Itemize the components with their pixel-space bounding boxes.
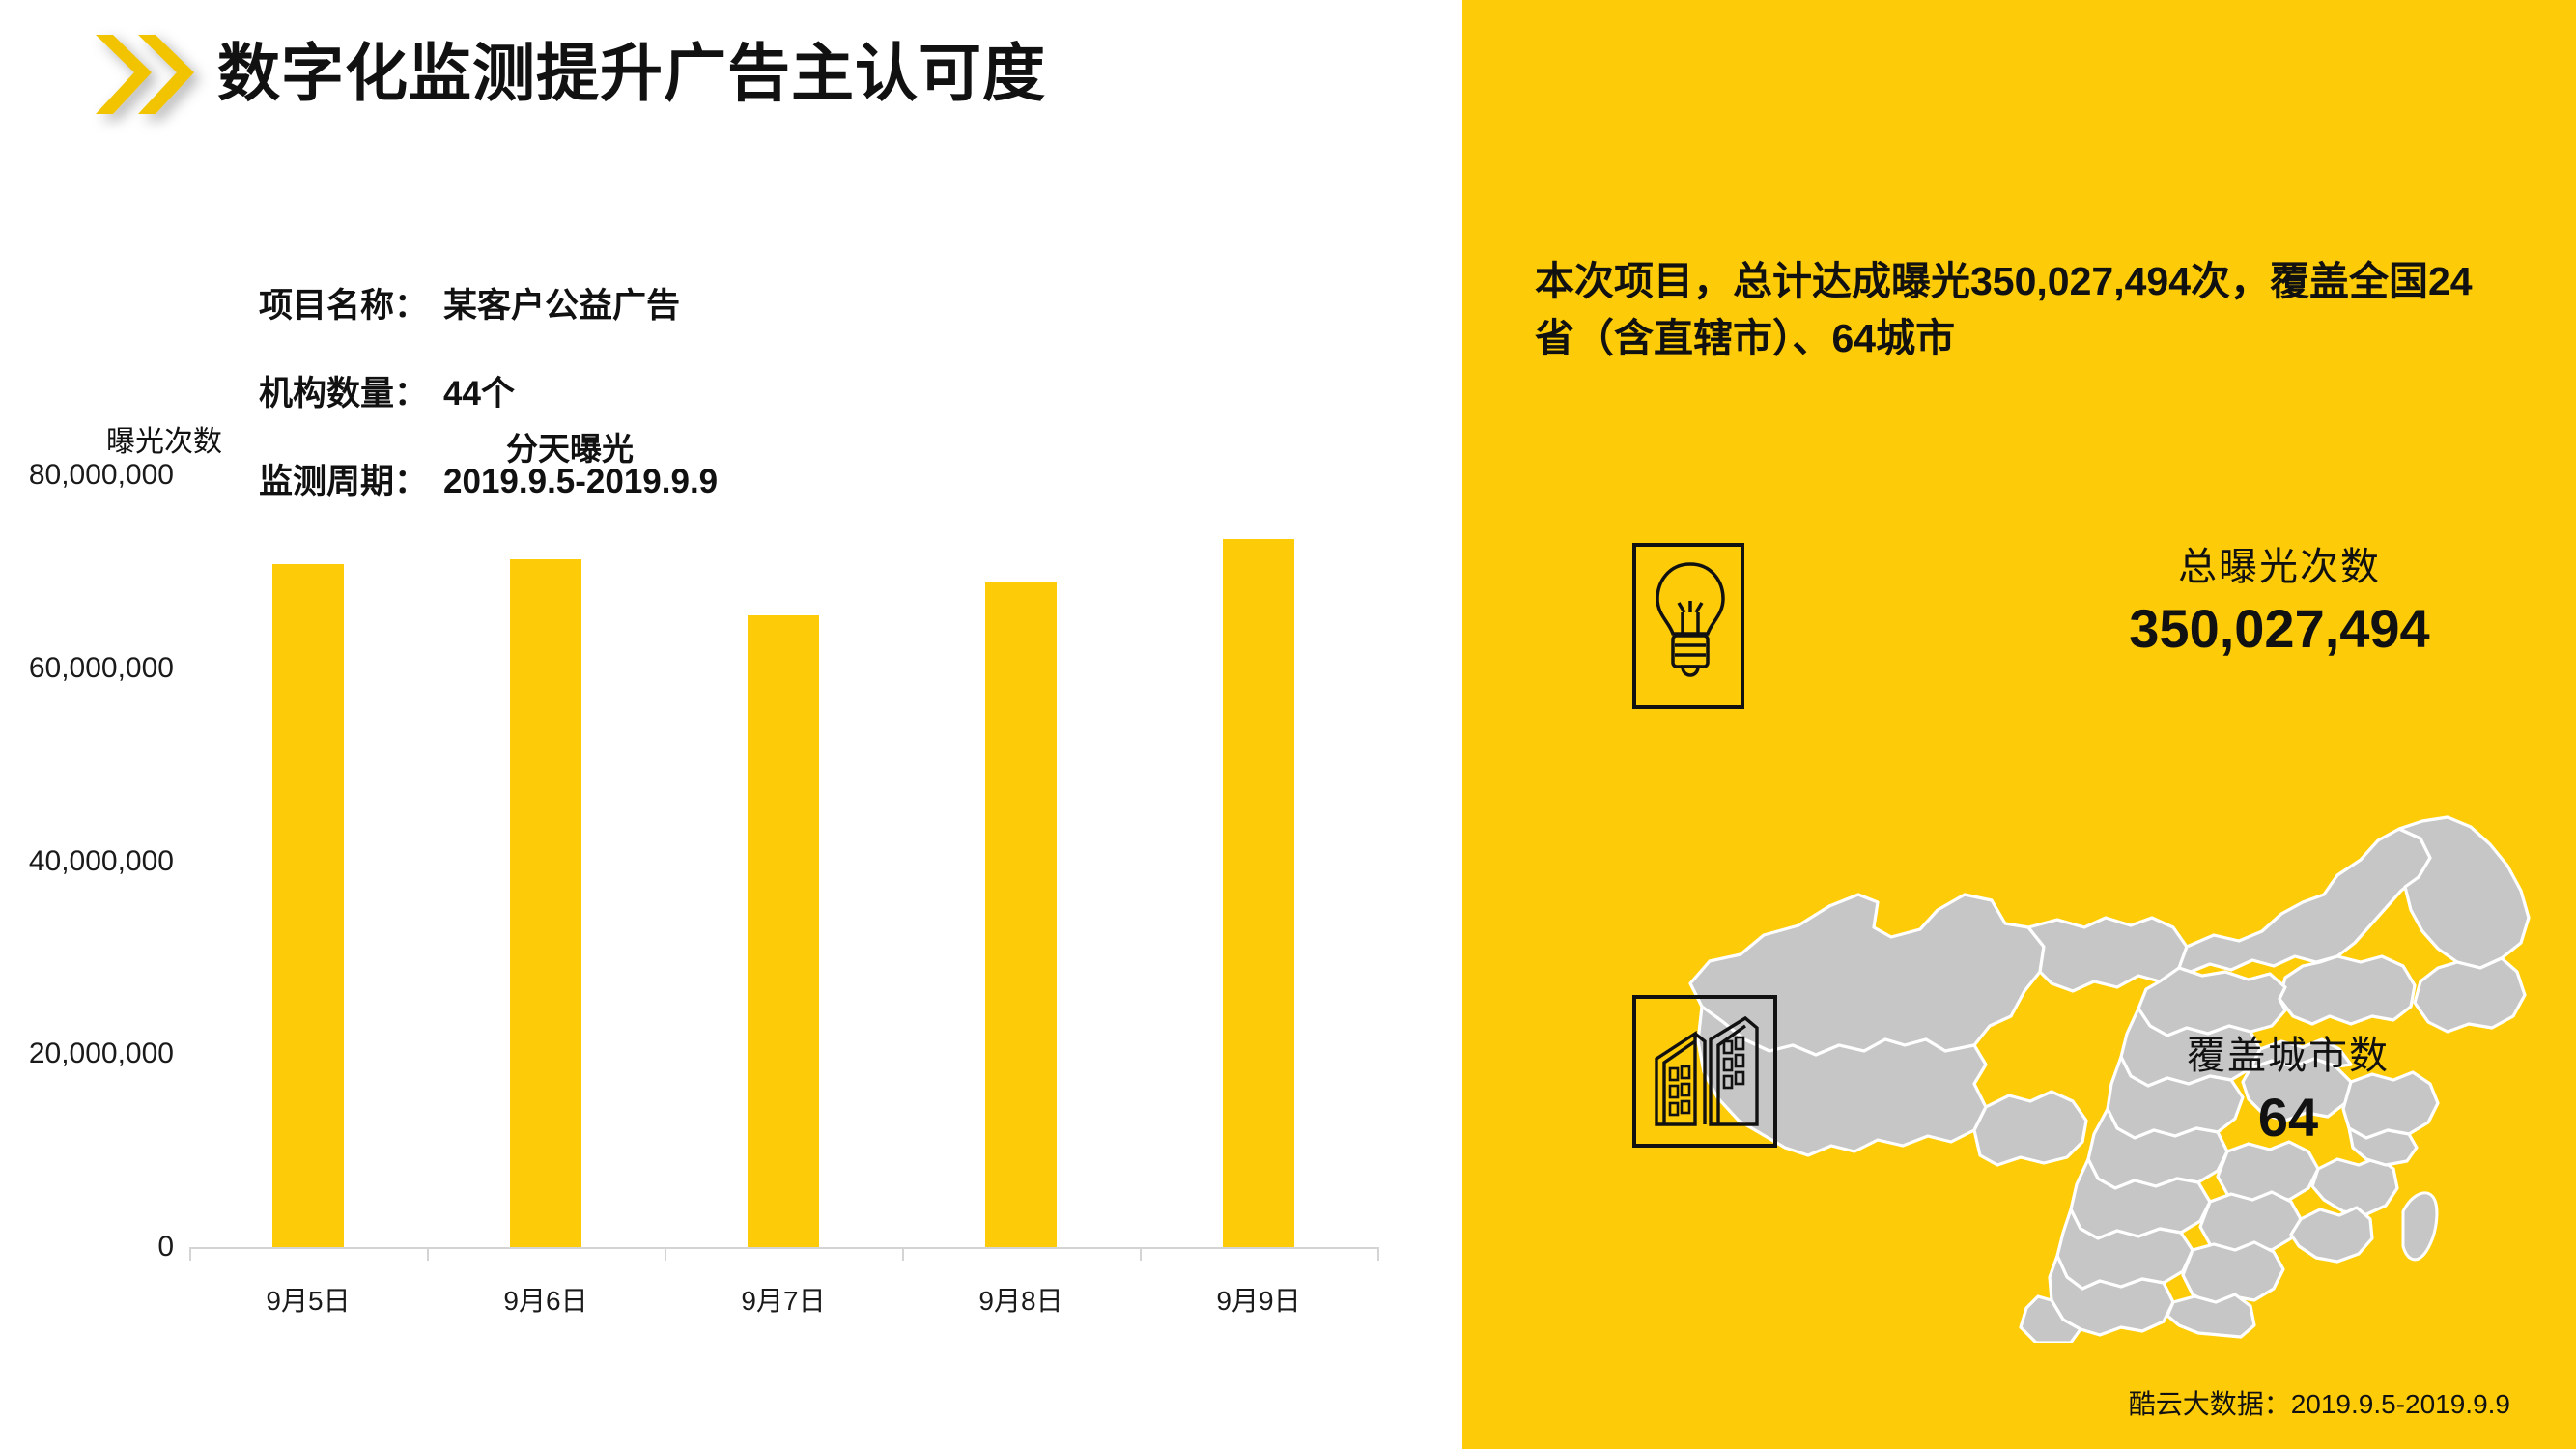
y-axis-ticks: 80,000,00060,000,00040,000,00020,000,000… — [0, 406, 174, 1333]
x-tick-mark — [427, 1247, 429, 1261]
lightbulb-icon-box — [1632, 543, 1744, 709]
bar — [272, 564, 344, 1247]
right-panel: 本次项目，总计达成曝光350,027,494次，覆盖全国24省（含直辖市）、64… — [1462, 0, 2576, 1449]
y-tick-label: 80,000,000 — [0, 459, 174, 492]
x-tick-mark — [189, 1247, 191, 1261]
data-source-footer: 酷云大数据：2019.9.5-2019.9.9 — [1462, 1383, 2576, 1422]
info-label: 项目名称： — [259, 278, 428, 327]
exposure-text-group: 总曝光次数 350,027,494 — [2009, 535, 2550, 660]
x-tick-mark — [665, 1247, 666, 1261]
stat-value: 64 — [2085, 1086, 2491, 1149]
stat-label: 覆盖城市数 — [2085, 1024, 2491, 1080]
plot-area: 9月5日9月6日9月7日9月8日9月9日 — [189, 406, 1387, 1333]
x-tick-label: 9月8日 — [924, 1280, 1118, 1319]
info-value: 某客户公益广告 — [443, 278, 680, 327]
stat-covered-cities — [1632, 995, 1777, 1150]
x-tick-label: 9月6日 — [449, 1280, 642, 1319]
stat-label: 总曝光次数 — [2009, 535, 2550, 591]
y-tick-label: 60,000,000 — [0, 652, 174, 685]
bar — [748, 615, 819, 1247]
x-axis-line — [189, 1247, 1377, 1249]
headline-summary: 本次项目，总计达成曝光350,027,494次，覆盖全国24省（含直辖市）、64… — [1535, 253, 2510, 368]
y-tick-label: 40,000,000 — [0, 845, 174, 878]
bar — [510, 559, 581, 1247]
stat-value: 350,027,494 — [2009, 597, 2550, 660]
buildings-icon — [1645, 1009, 1769, 1140]
title-row: 数字化监测提升广告主认可度 — [92, 21, 1046, 124]
x-tick-label: 9月7日 — [687, 1280, 880, 1319]
info-row: 项目名称： 某客户公益广告 — [259, 278, 718, 327]
lightbulb-icon — [1648, 556, 1733, 701]
x-tick-label: 9月9日 — [1162, 1280, 1355, 1319]
stat-total-exposure: 总曝光次数 350,027,494 — [1632, 543, 2550, 717]
y-tick-label: 0 — [0, 1231, 174, 1264]
x-tick-mark — [902, 1247, 904, 1261]
bar — [1223, 539, 1294, 1247]
x-tick-mark — [1377, 1247, 1379, 1261]
x-tick-mark — [1140, 1247, 1142, 1261]
bar — [985, 582, 1057, 1247]
double-chevron-right-icon — [92, 21, 196, 124]
left-panel: 数字化监测提升广告主认可度 项目名称： 某客户公益广告 机构数量： 44个 监测… — [0, 0, 1462, 1449]
daily-exposure-chart: 曝光次数 分天曝光 80,000,00060,000,00040,000,000… — [0, 406, 1462, 1333]
x-tick-label: 9月5日 — [212, 1280, 405, 1319]
page-title: 数字化监测提升广告主认可度 — [217, 42, 1046, 104]
y-tick-label: 20,000,000 — [0, 1037, 174, 1070]
buildings-icon-box — [1632, 995, 1777, 1148]
cities-text-group: 覆盖城市数 64 — [2085, 1024, 2491, 1149]
